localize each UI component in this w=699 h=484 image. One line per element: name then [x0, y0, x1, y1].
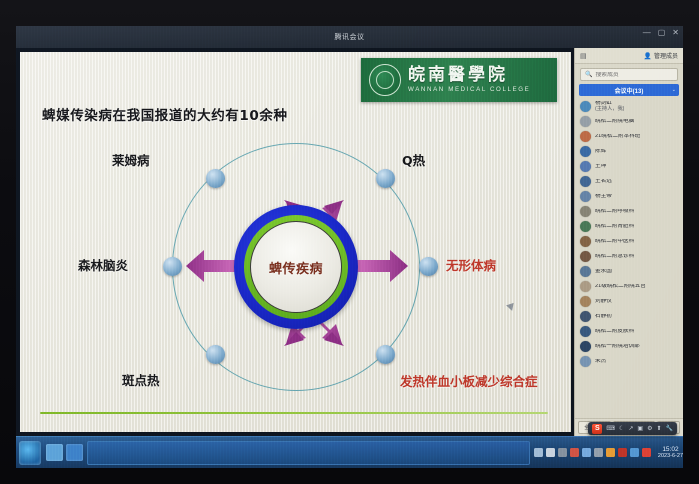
maximize-button[interactable]: ▢: [658, 29, 666, 37]
list-item[interactable]: 皖松二附皮肤科: [575, 324, 683, 339]
member-name: 皖松二附皮肤科: [595, 329, 634, 335]
system-tray: [534, 448, 655, 457]
avatar: [580, 176, 591, 187]
tray-icon-2[interactable]: [630, 448, 639, 457]
avatar: [580, 236, 591, 247]
minimize-button[interactable]: —: [643, 29, 651, 37]
screen-area: 腾讯会议 — ▢ ✕ 皖南醫學院 WANNAN MEDICAL: [16, 26, 683, 468]
arrow-right-icon: [356, 246, 410, 286]
label-forest-encephalitis: 森林脑炎: [78, 255, 128, 274]
network-icon[interactable]: [534, 448, 543, 457]
start-orb-icon[interactable]: [19, 441, 41, 465]
chevron-down-icon[interactable]: ⌄: [672, 87, 676, 93]
member-text-group: 杨剑虹(主持人，我): [595, 101, 624, 112]
window-content: 皖南醫學院 WANNAN MEDICAL COLLEGE 蜱媒传染病在我国报道的…: [16, 48, 683, 436]
avatar: [580, 101, 591, 112]
tray-icon-4[interactable]: [606, 448, 615, 457]
mouse-cursor-icon: [506, 303, 516, 312]
ime-float-bar[interactable]: S ⌨ ☾ ↗ ▣ ⚙ ⬆ 🔧: [588, 422, 677, 435]
node-bottom-left: [206, 345, 225, 364]
list-item[interactable]: 皖松二附院电脑: [575, 114, 683, 129]
slide-title: 蜱媒传染病在我国报道的大约有10余种: [42, 104, 288, 124]
tencent-meeting-window: 腾讯会议 — ▢ ✕ 皖南醫學院 WANNAN MEDICAL: [16, 26, 683, 436]
tray-icon-7[interactable]: [570, 448, 579, 457]
member-name: 石静初: [595, 314, 612, 320]
node-bottom-right: [376, 345, 395, 364]
center-label: 蜱传疾病: [269, 258, 323, 277]
list-item[interactable]: 杨主带: [575, 189, 683, 204]
node-left: [163, 257, 182, 276]
avatar: [580, 206, 591, 217]
avatar: [580, 311, 591, 322]
tray-icon-1[interactable]: [642, 448, 651, 457]
up-icon[interactable]: ⬆: [656, 425, 661, 432]
center-disc: 蜱传疾病: [250, 221, 342, 313]
arrow-left-icon: [184, 246, 238, 286]
participants-sidebar: ▤ 👤 管理成员 🔍 会议中(13) ⌄ 杨剑虹(主持: [574, 48, 683, 436]
list-item[interactable]: 王坤: [575, 159, 683, 174]
panel-icon[interactable]: ▣: [637, 425, 643, 432]
list-item[interactable]: 皖松二附肾脏科: [575, 219, 683, 234]
member-text-group: 王名远: [595, 179, 612, 185]
label-lyme-disease: 莱姆病: [112, 150, 150, 169]
taskbar-clock[interactable]: 15:02 2023-6-27: [655, 446, 683, 460]
label-spotted-fever: 斑点热: [122, 370, 160, 389]
list-item[interactable]: 金永国: [575, 264, 683, 279]
list-item[interactable]: 皖松二附急诊科: [575, 249, 683, 264]
tray-icon-5[interactable]: [594, 448, 603, 457]
pin-icon[interactable]: ↗: [628, 425, 633, 432]
avatar: [580, 161, 591, 172]
member-name: 皖松二附肾脏科: [595, 224, 634, 230]
banner-text-group: 皖南醫學院 WANNAN MEDICAL COLLEGE: [408, 67, 530, 94]
settings-icon[interactable]: ⚙: [647, 425, 652, 432]
monitor-photo: 腾讯会议 — ▢ ✕ 皖南醫學院 WANNAN MEDICAL: [0, 0, 699, 484]
member-name: 王名远: [595, 179, 612, 185]
college-crest-icon: [369, 64, 401, 96]
college-name-en: WANNAN MEDICAL COLLEGE: [408, 86, 530, 93]
member-text-group: 朱杰: [595, 359, 606, 365]
member-name: 陈辉: [595, 149, 606, 155]
tray-icon-3[interactable]: [618, 448, 627, 457]
member-text-group: 皖松二附院电脑: [595, 119, 634, 125]
list-item[interactable]: 王名远: [575, 174, 683, 189]
avatar: [580, 266, 591, 277]
member-name: 21级皖松二附院五官: [595, 284, 646, 290]
moon-icon[interactable]: ☾: [619, 425, 624, 432]
list-item[interactable]: 杨剑虹(主持人，我): [575, 99, 683, 114]
center-ring-inner: 蜱传疾病: [244, 215, 348, 319]
member-text-group: 石静初: [595, 314, 612, 320]
label-sfts: 发热伴血小板减少综合症: [400, 371, 538, 390]
member-text-group: 皖松二附中医科: [595, 239, 634, 245]
list-item[interactable]: 皖松一附院培训部: [575, 339, 683, 354]
member-name: 皖松二附中医科: [595, 239, 634, 245]
member-text-group: 皖松一附院培训部: [595, 344, 640, 350]
member-text-group: 皖松二附皮肤科: [595, 329, 634, 335]
member-name: 杨主带: [595, 194, 612, 200]
list-item[interactable]: 皖松二附中医科: [575, 234, 683, 249]
taskbar-buttons-area[interactable]: [87, 441, 530, 465]
avatar: [580, 251, 591, 262]
avatar: [580, 191, 591, 202]
member-name: 朱杰: [595, 359, 606, 365]
member-text-group: 杨主带: [595, 194, 612, 200]
member-text-group: 21级皖松二附院五官: [595, 284, 646, 290]
member-name: 皖松一附院培训部: [595, 344, 640, 350]
member-name: 王坤: [595, 164, 606, 170]
slide-accent-rule: [40, 412, 548, 415]
member-name: 皖松二附呼吸科: [595, 209, 634, 215]
tab-in-meeting[interactable]: 会议中(13) ⌄: [579, 84, 679, 96]
window-titlebar[interactable]: 腾讯会议 — ▢ ✕: [16, 26, 683, 48]
avatar: [580, 146, 591, 157]
show-desktop-icon[interactable]: [46, 444, 63, 461]
panel-toggle-icon[interactable]: ▤: [580, 52, 587, 60]
node-top-right: [376, 169, 395, 188]
member-search-box[interactable]: 🔍: [580, 68, 678, 81]
sidebar-header: ▤ 👤 管理成员: [575, 48, 683, 64]
member-text-group: 刘静仪: [595, 299, 612, 305]
node-right: [419, 257, 438, 276]
tray-icon-8[interactable]: [558, 448, 567, 457]
list-item[interactable]: 21皖松二附本科班: [575, 129, 683, 144]
avatar: [580, 326, 591, 337]
avatar: [580, 356, 591, 367]
window-controls: — ▢ ✕: [643, 29, 679, 37]
browser-icon[interactable]: [66, 444, 83, 461]
clock-date: 2023-6-27: [658, 453, 683, 459]
volume-icon[interactable]: [546, 448, 555, 457]
member-name: 皖松二附急诊科: [595, 254, 634, 260]
avatar: [580, 221, 591, 232]
window-title: 腾讯会议: [335, 32, 365, 42]
label-anaplasmosis: 无形体病: [446, 255, 496, 274]
member-text-group: 陈辉: [595, 149, 606, 155]
clock-time: 15:02: [662, 446, 678, 453]
tab-in-meeting-label: 会议中(13): [615, 86, 644, 95]
list-item[interactable]: 陈辉: [575, 144, 683, 159]
member-role: (主持人，我): [595, 107, 624, 112]
member-name: 21皖松二附本科班: [595, 134, 640, 140]
ime-badge-icon[interactable]: S: [592, 424, 602, 434]
college-banner: 皖南醫學院 WANNAN MEDICAL COLLEGE: [361, 58, 557, 102]
college-name-cn: 皖南醫學院: [408, 67, 530, 85]
member-text-group: 皖松二附呼吸科: [595, 209, 634, 215]
list-item[interactable]: 21级皖松二附院五官: [575, 279, 683, 294]
member-name: 金永国: [595, 269, 612, 275]
avatar: [580, 296, 591, 307]
avatar: [580, 281, 591, 292]
member-name: 刘静仪: [595, 299, 612, 305]
tick-borne-disease-diagram: 蜱传疾病 莱姆病: [80, 128, 510, 408]
avatar: [580, 131, 591, 142]
member-text-group: 王坤: [595, 164, 606, 170]
manage-members-group[interactable]: 👤 管理成员: [644, 51, 678, 60]
center-ring-outer: 蜱传疾病: [234, 205, 358, 329]
list-item[interactable]: 石静初: [575, 309, 683, 324]
member-text-group: 金永国: [595, 269, 612, 275]
close-button[interactable]: ✕: [672, 29, 679, 37]
member-list[interactable]: 杨剑虹(主持人，我)皖松二附院电脑21皖松二附本科班陈辉王坤王名远杨主带皖松二附…: [575, 98, 683, 418]
presentation-slide: 皖南醫學院 WANNAN MEDICAL COLLEGE 蜱媒传染病在我国报道的…: [20, 52, 571, 432]
windows-taskbar: 15:02 2023-6-27: [16, 436, 683, 468]
list-item[interactable]: 刘静仪: [575, 294, 683, 309]
wrench-icon[interactable]: 🔧: [666, 425, 673, 432]
avatar: [580, 116, 591, 127]
avatar: [580, 341, 591, 352]
member-text-group: 21皖松二附本科班: [595, 134, 640, 140]
member-text-group: 皖松二附肾脏科: [595, 224, 634, 230]
list-item[interactable]: 皖松二附呼吸科: [575, 204, 683, 219]
quick-launch-group: [46, 444, 83, 461]
search-input[interactable]: [595, 72, 673, 78]
tray-icon-6[interactable]: [582, 448, 591, 457]
label-q-fever: Q热: [402, 150, 425, 169]
shared-screen-stage[interactable]: 皖南醫學院 WANNAN MEDICAL COLLEGE 蜱媒传染病在我国报道的…: [16, 48, 574, 436]
person-icon: 👤: [644, 52, 652, 60]
keyboard-icon[interactable]: ⌨: [606, 425, 615, 432]
manage-members-label: 管理成员: [654, 51, 678, 60]
member-name: 皖松二附院电脑: [595, 119, 634, 125]
member-text-group: 皖松二附急诊科: [595, 254, 634, 260]
node-top-left: [206, 169, 225, 188]
list-item[interactable]: 朱杰: [575, 354, 683, 369]
search-icon: 🔍: [585, 71, 592, 78]
